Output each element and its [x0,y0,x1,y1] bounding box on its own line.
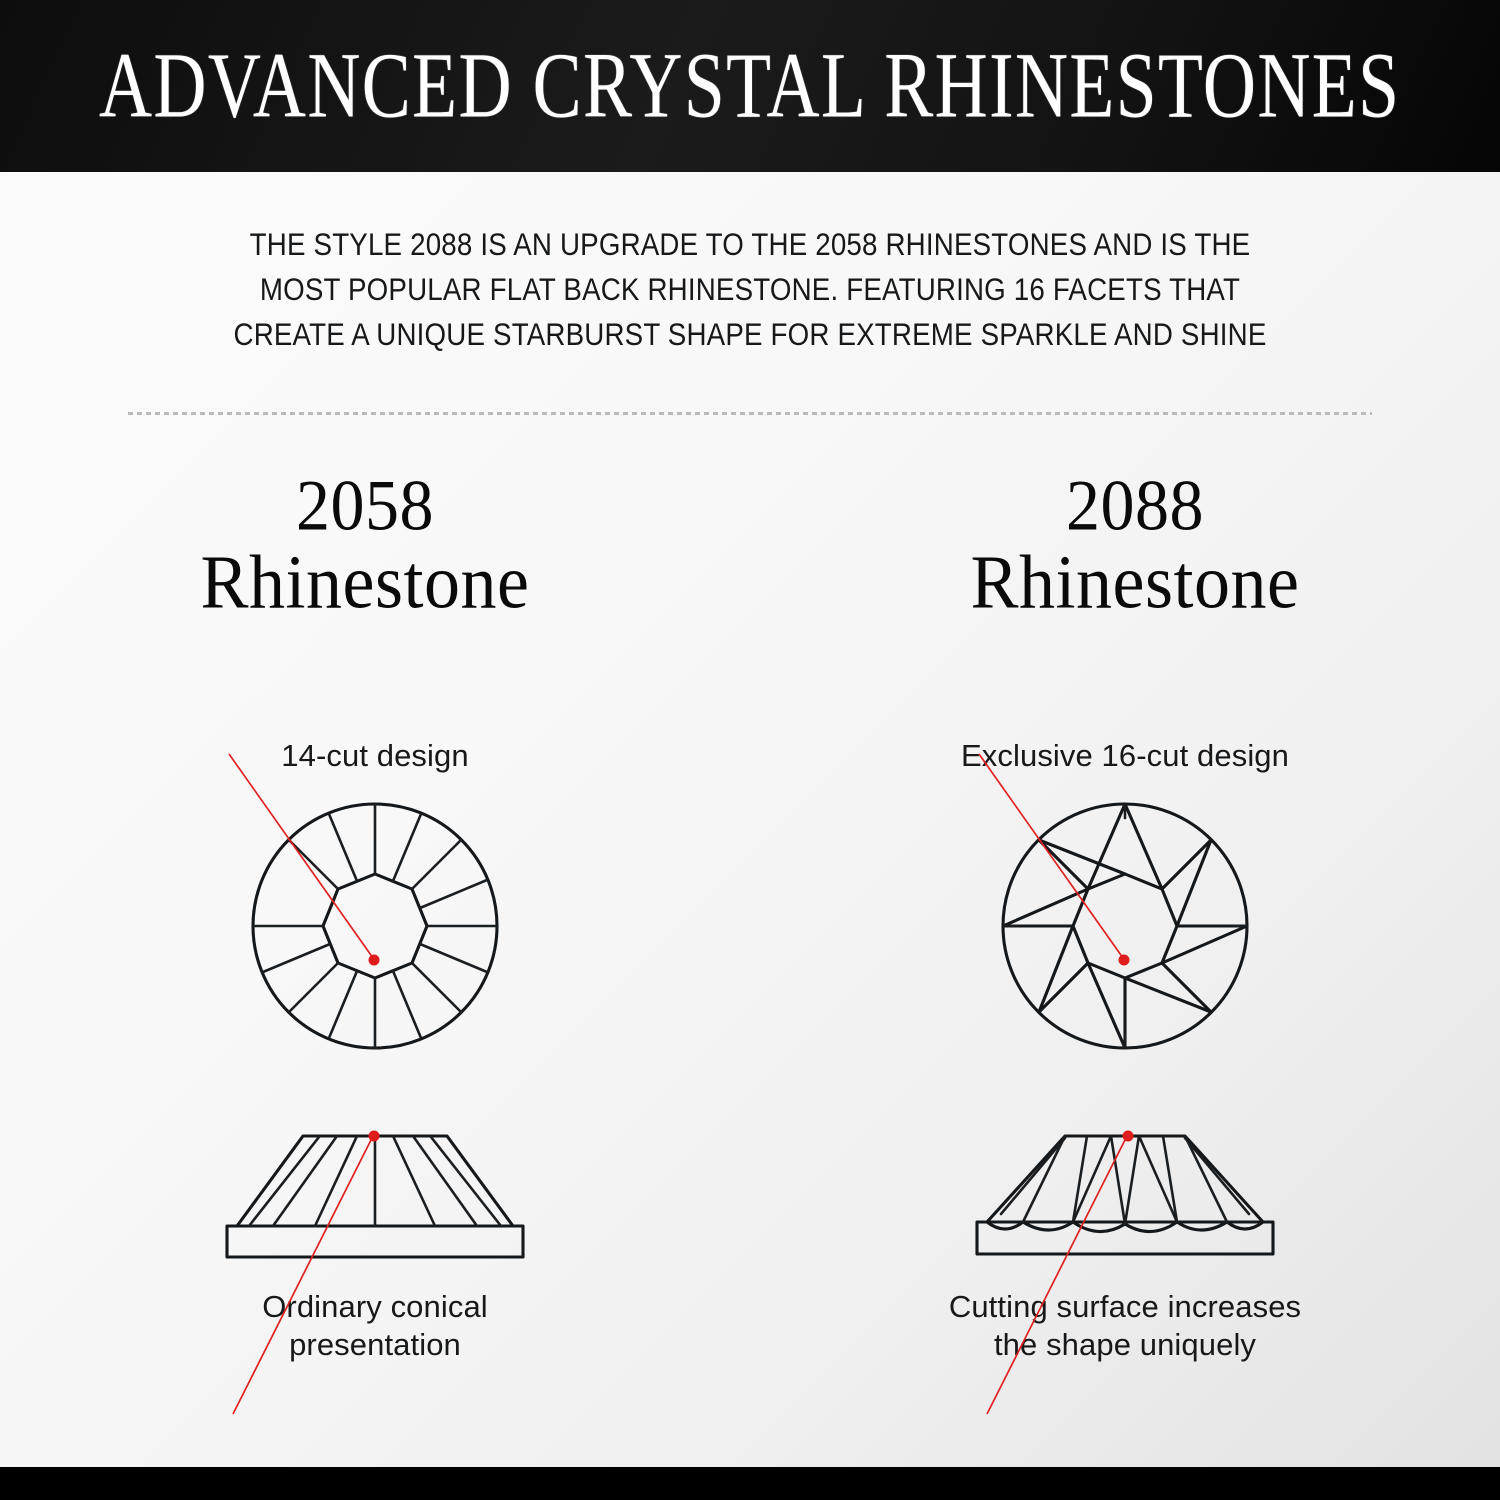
gem-top-view-16-cut-starburst-icon [915,796,1335,1064]
column-2088: 2088 Rhinestone Exclusive 16-cut design [750,470,1500,1364]
column-title-word: Rhinestone [971,542,1300,621]
column-title-2058: 2058 Rhinestone [201,470,530,620]
column-title-word: Rhinestone [201,542,530,621]
figure-gem-top-2088 [915,796,1335,1064]
gem-top-view-14-cut-icon [165,796,585,1064]
figure-gem-top-2058 [165,796,585,1064]
column-title-number: 2058 [201,468,530,543]
figure-gem-side-2058 [165,1114,585,1282]
caption-line-2: the shape uniquely [949,1326,1301,1364]
page-title: ADVANCED CRYSTAL RHINESTONES [99,39,1400,132]
column-title-2088: 2088 Rhinestone [971,470,1300,620]
intro-paragraph: THE STYLE 2088 IS AN UPGRADE TO THE 2058… [100,222,1400,357]
intro-line-2: MOST POPULAR FLAT BACK RHINESTONE. FEATU… [178,267,1322,312]
gem-side-view-starburst-icon [915,1114,1335,1282]
figure-gem-side-2088 [915,1114,1335,1282]
label-16-cut-design: Exclusive 16-cut design [961,738,1289,774]
section-divider [128,412,1372,415]
comparison-columns: 2058 Rhinestone 14-cut design [0,470,1500,1364]
infographic-page: ADVANCED CRYSTAL RHINESTONES THE STYLE 2… [0,0,1500,1500]
caption-line-1: Ordinary conical [262,1288,488,1326]
pointer-dot-center-2058-side [369,1130,380,1141]
header-banner: ADVANCED CRYSTAL RHINESTONES [0,0,1500,172]
intro-line-3: CREATE A UNIQUE STARBURST SHAPE FOR EXTR… [178,312,1322,357]
pointer-dot-center-2088-side [1123,1130,1134,1141]
caption-line-1: Cutting surface increases [949,1288,1301,1326]
caption-line-2: presentation [262,1326,488,1364]
gem-side-view-conical-icon [165,1114,585,1282]
pointer-dot-center-2088 [1119,954,1130,965]
column-title-number: 2088 [971,468,1300,543]
label-14-cut-design: 14-cut design [281,738,468,774]
column-2058: 2058 Rhinestone 14-cut design [0,470,750,1364]
footer-bar [0,1467,1500,1500]
intro-line-1: THE STYLE 2088 IS AN UPGRADE TO THE 2058… [178,222,1322,267]
caption-2088: Cutting surface increases the shape uniq… [949,1288,1301,1364]
pointer-dot-center-2058 [369,954,380,965]
caption-2058: Ordinary conical presentation [262,1288,488,1364]
